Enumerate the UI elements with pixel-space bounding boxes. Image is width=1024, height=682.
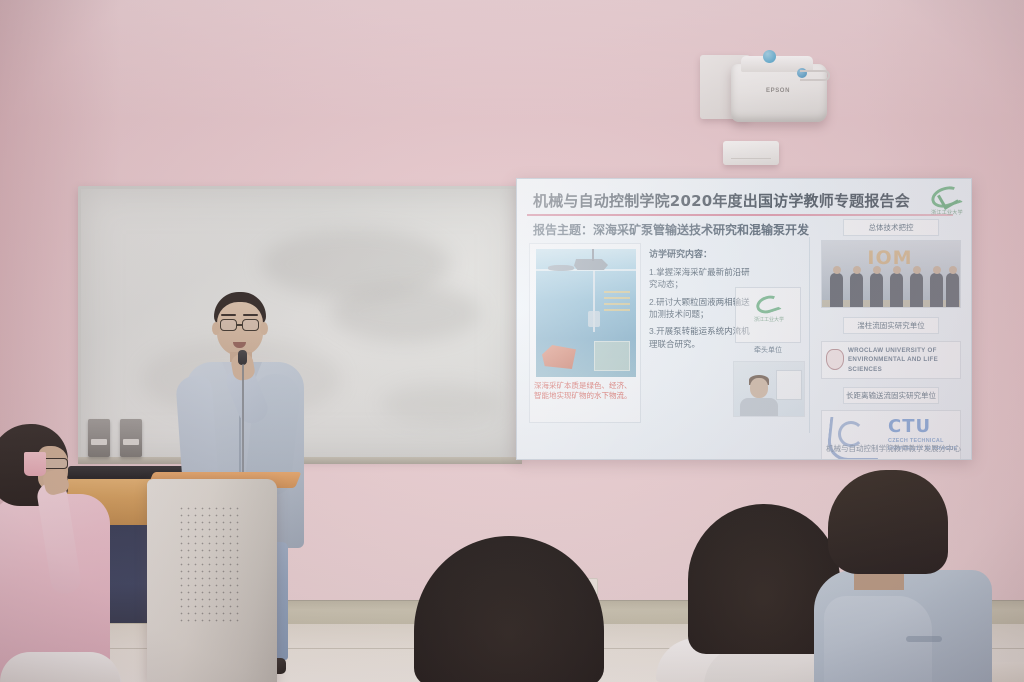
lead-institution-name: 浙江工业大学 xyxy=(736,316,802,323)
group-photo-label: 总体技术把控 xyxy=(843,219,939,236)
projector-blue-knob-icon xyxy=(763,50,776,63)
speaker-ear-right xyxy=(260,322,268,335)
group-photo-person xyxy=(946,273,959,307)
slide-footer: 机械与自动控制学院教师教学发展分中心 xyxy=(826,443,961,454)
lead-institution-label: 牵头单位 xyxy=(735,345,801,355)
group-photo-person xyxy=(830,273,843,307)
submarine-icon xyxy=(548,265,574,271)
pump-module-icon xyxy=(588,311,600,327)
wroclaw-crest-icon xyxy=(826,349,844,370)
partner-label-ctu: 长距离输送流固实研究单位 xyxy=(843,387,939,404)
deep-sea-mining-illustration xyxy=(536,249,636,377)
partner-card-wroclaw: WROCLAW UNIVERSITY OF ENVIRONMENTAL AND … xyxy=(821,341,961,379)
delegation-group-photo: IOM xyxy=(821,240,961,308)
speaker-glasses-bridge xyxy=(237,324,242,326)
seabed-mining-vehicle-icon xyxy=(542,345,576,369)
slide-title-rule xyxy=(527,214,953,216)
photo-window-icon xyxy=(776,370,802,400)
researcher-photo xyxy=(733,361,805,417)
white-chair-left xyxy=(0,652,120,682)
classroom-presentation-photo: EPSON 机械与自动控制学院2020年度出国访学教师专题报告会 报告主题：深海… xyxy=(0,0,1024,682)
surface-vessel-icon xyxy=(574,259,608,270)
audience-right-blue-shirt xyxy=(818,470,1024,682)
whiteboard-smudge xyxy=(381,384,501,424)
speaker-glasses-right-lens xyxy=(242,319,259,331)
ctu-wordmark: CTU xyxy=(888,416,931,437)
ore-plume-icon xyxy=(604,291,630,313)
whiteboard-smudge xyxy=(331,284,481,342)
slide-title: 机械与自动控制学院2020年度出国访学教师专题报告会 xyxy=(533,190,913,211)
group-photo-person xyxy=(930,273,943,307)
projector-mirror-arm xyxy=(800,70,830,81)
wall-control-box[interactable] xyxy=(723,141,779,165)
logo-swoosh-icon xyxy=(754,293,782,317)
group-photo-person xyxy=(850,273,863,307)
speaker-glasses-left-lens xyxy=(220,319,237,331)
slide-left-figure-panel: 深海采矿本质是绿色、经济、智能地实现矿物的水下物流。 xyxy=(529,243,641,423)
podium-speaker-grille xyxy=(178,505,242,625)
projector-brand-label: EPSON xyxy=(766,88,790,94)
audience-foreground-centre xyxy=(414,536,604,682)
speaker-ear-left xyxy=(212,322,220,335)
audience-right-hair xyxy=(828,470,948,574)
speaker-eyebrow-right xyxy=(243,314,258,316)
group-photo-person xyxy=(910,273,923,307)
slide-left-caption: 深海采矿本质是绿色、经济、智能地实现矿物的水下物流。 xyxy=(534,381,638,401)
speaker-eyebrow-left xyxy=(221,314,236,316)
slide-partners-column: 总体技术把控 IOM 湍柱流固实研究单位 WROCLAW UNIVERSITY … xyxy=(817,219,965,460)
zhejiang-university-of-technology-logo: 浙江工业大学 xyxy=(927,185,967,221)
wall-control-box-seam xyxy=(731,158,771,159)
audience-left-pink-shirt xyxy=(0,424,124,682)
logo-university-name: 浙江工业大学 xyxy=(927,209,967,216)
photo-person-body xyxy=(740,398,778,417)
slide-vertical-divider xyxy=(809,237,810,433)
vessel-mast-icon xyxy=(592,249,594,261)
audience-right-cuff xyxy=(906,636,942,642)
paper-cup xyxy=(24,452,46,476)
projection-screen: 机械与自动控制学院2020年度出国访学教师专题报告会 报告主题：深海采矿泵管输送… xyxy=(516,178,972,460)
audience-foreground-centre-hair xyxy=(414,536,604,682)
group-photo-person xyxy=(890,273,903,307)
handheld-microphone xyxy=(238,350,247,365)
partner-name-wroclaw: WROCLAW UNIVERSITY OF ENVIRONMENTAL AND … xyxy=(848,346,957,374)
partner-label-wroclaw: 湍柱流固实研究单位 xyxy=(843,317,939,334)
group-photo-person xyxy=(870,273,883,307)
seabed-ore-field-icon xyxy=(594,341,630,371)
photo-person-head xyxy=(750,378,768,398)
lead-institution-logo-card: 浙江工业大学 xyxy=(735,287,801,343)
slide-content-heading: 访学研究内容： xyxy=(649,247,753,260)
